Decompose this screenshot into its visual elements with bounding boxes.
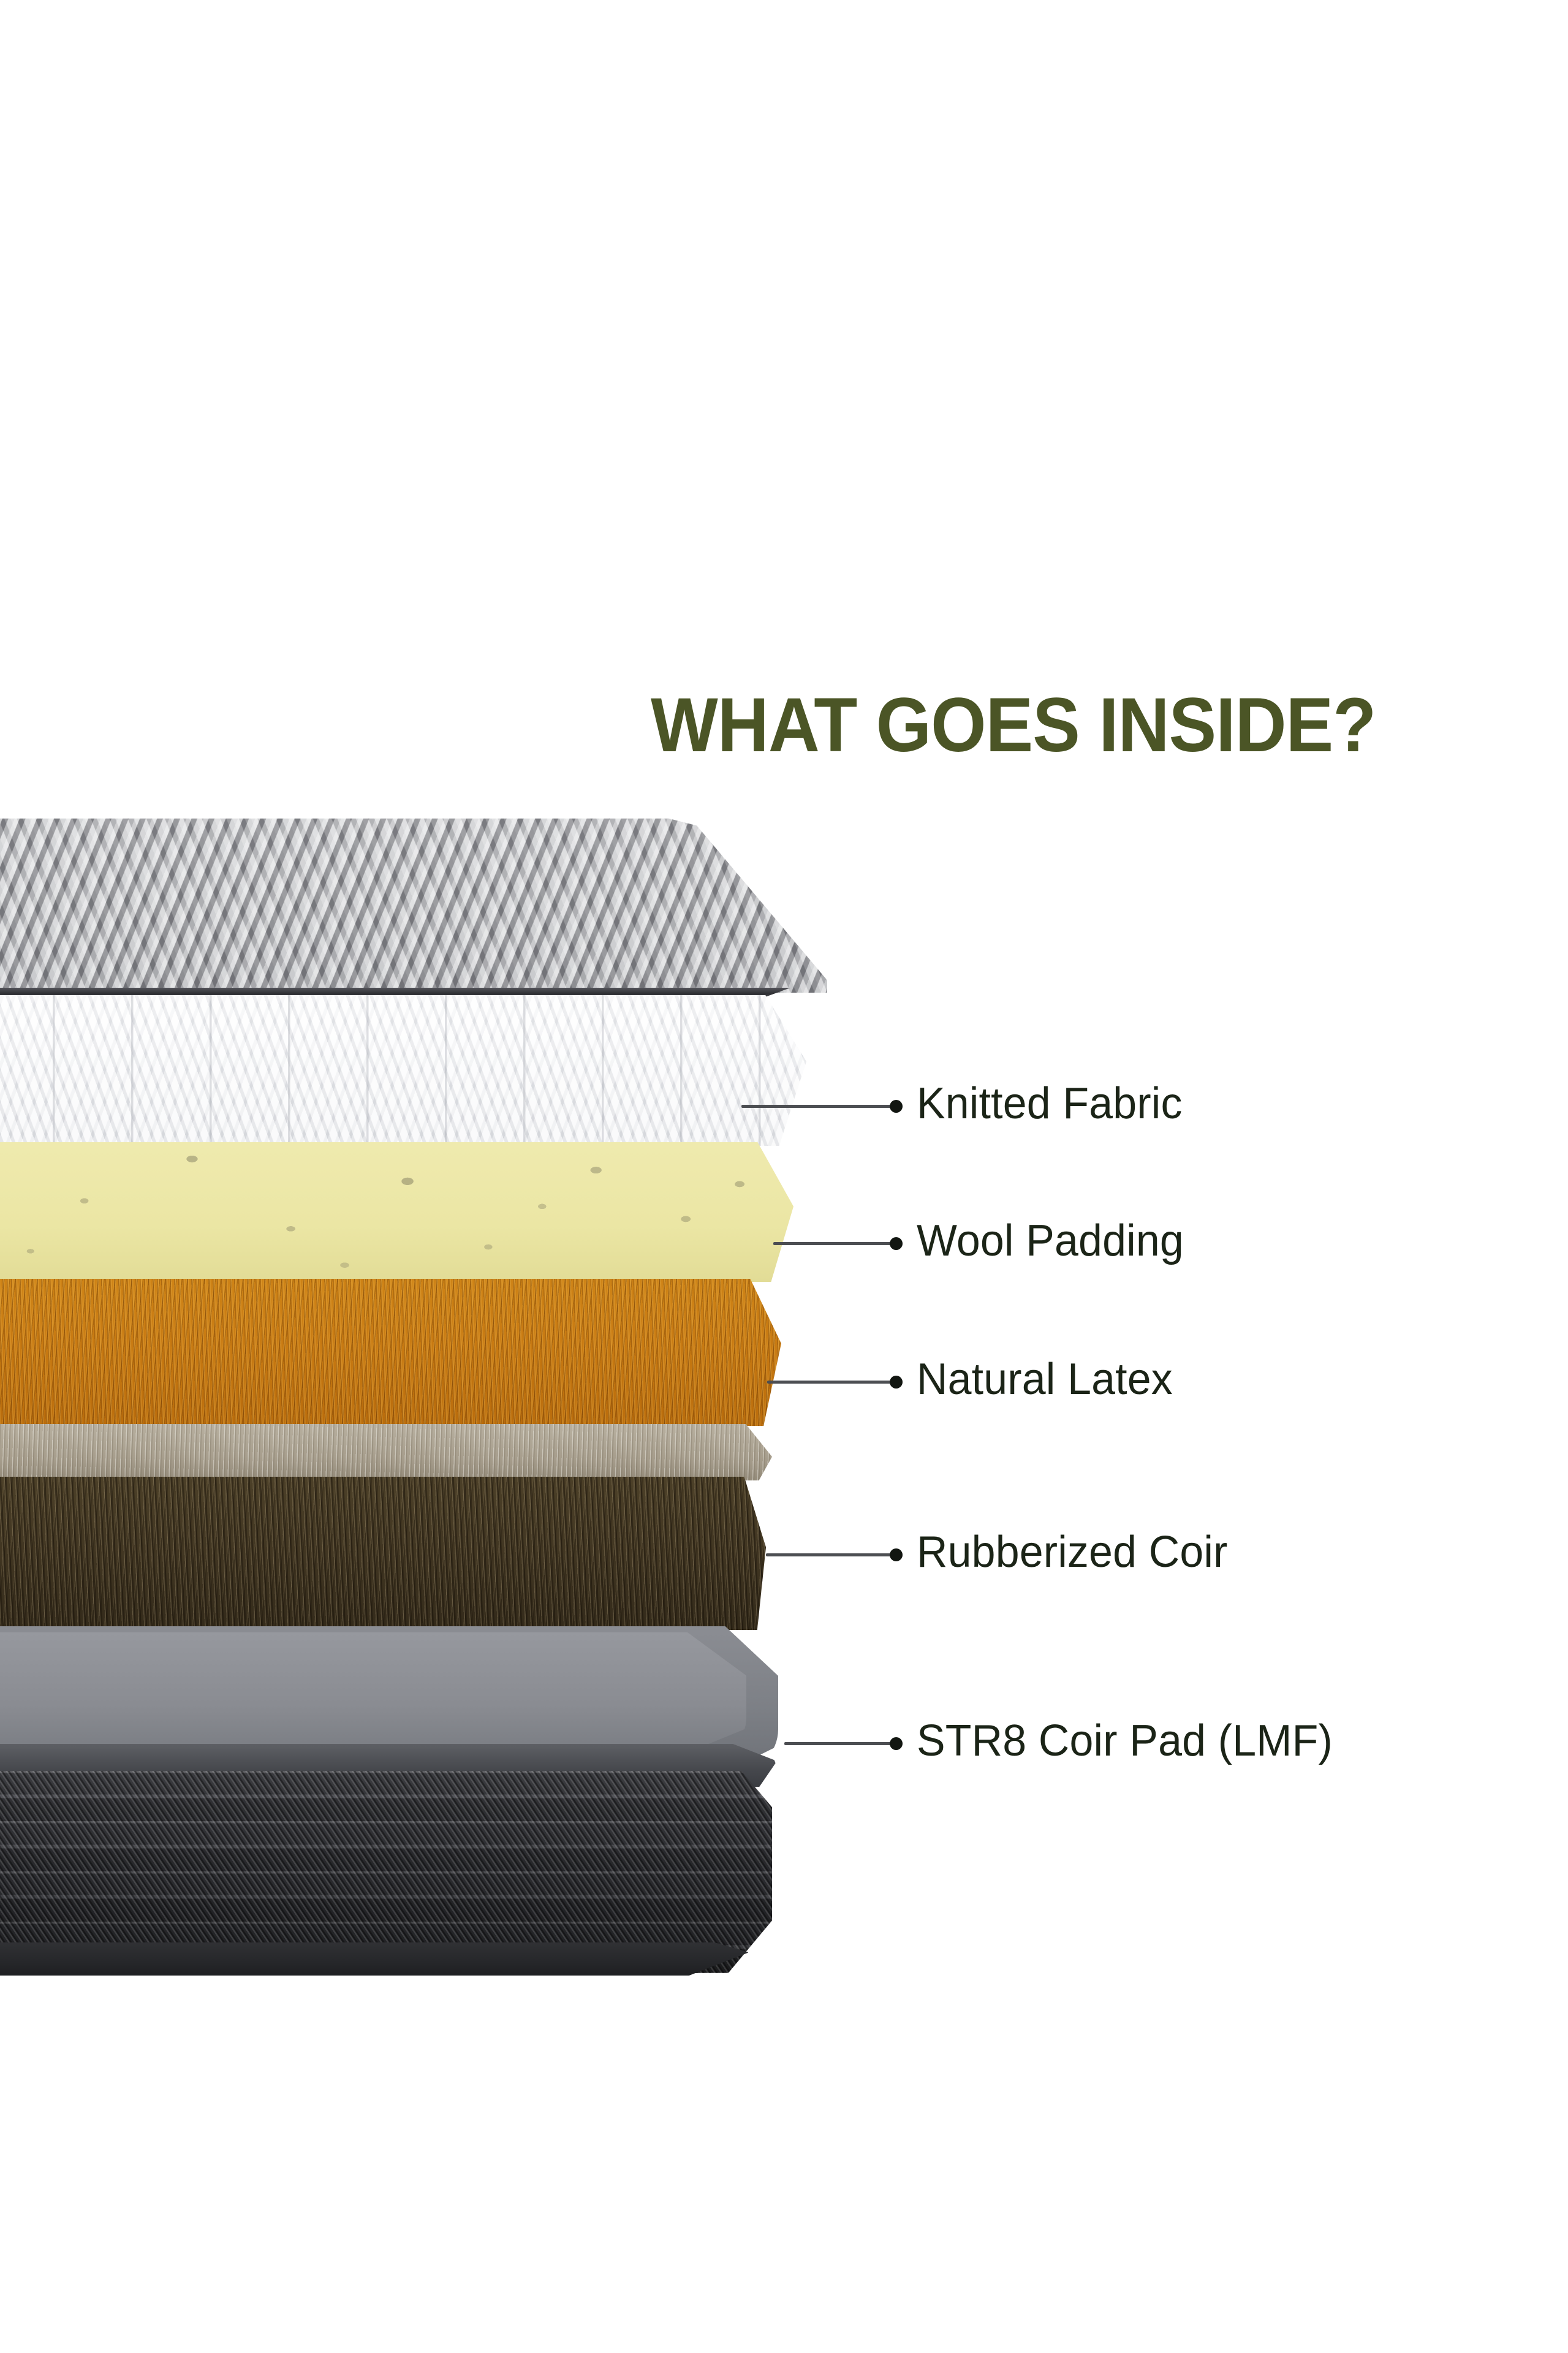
layer-label-rubberized-coir: Rubberized Coir	[917, 1530, 1228, 1574]
natural-latex-layer	[0, 1279, 781, 1426]
leader-line-wool-padding	[773, 1242, 895, 1245]
bullet-dot-wool-padding	[890, 1237, 903, 1250]
wool-padding-layer	[0, 1142, 793, 1282]
leader-line-knitted-fabric	[741, 1105, 895, 1108]
rubberized-coir-layer	[0, 1477, 766, 1630]
bullet-dot-natural-latex	[890, 1376, 903, 1389]
leader-line-str8-coir-pad	[784, 1742, 895, 1745]
infographic-canvas: WHAT GOES INSIDE? Knitted Fabric Wool Pa…	[0, 0, 1568, 2353]
bullet-dot-str8-coir-pad	[890, 1737, 903, 1750]
str8-coir-pad-foot	[0, 1942, 749, 1976]
page-title: WHAT GOES INSIDE?	[651, 685, 1449, 765]
mattress-layer-stack-illustration	[0, 815, 864, 1973]
leader-line-rubberized-coir	[766, 1553, 895, 1556]
layer-label-knitted-fabric: Knitted Fabric	[917, 1082, 1183, 1126]
layer-label-str8-coir-pad: STR8 Coir Pad (LMF)	[917, 1719, 1333, 1763]
bullet-dot-rubberized-coir	[890, 1548, 903, 1561]
quilted-top-surface-layer	[0, 815, 827, 993]
leader-line-natural-latex	[767, 1381, 895, 1384]
knitted-fabric-layer	[0, 995, 806, 1146]
str8-coir-pad-inner-face	[0, 1632, 746, 1752]
bullet-dot-knitted-fabric	[890, 1100, 903, 1113]
rubberized-coir-top-face	[0, 1424, 772, 1480]
layer-label-natural-latex: Natural Latex	[917, 1357, 1173, 1401]
layer-label-wool-padding: Wool Padding	[917, 1219, 1184, 1263]
